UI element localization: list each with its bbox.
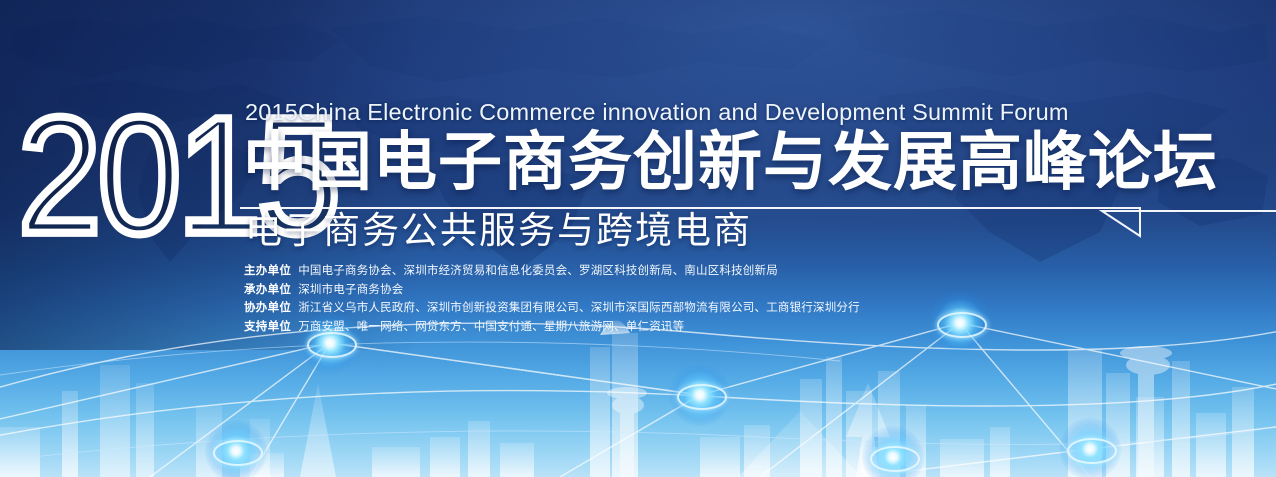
- organization-row: 承办单位 深圳市电子商务协会: [244, 281, 860, 297]
- english-subtitle: 2015China Electronic Commerce innovation…: [245, 100, 1069, 126]
- main-title: 中国电子商务创新与发展高峰论坛: [243, 130, 1218, 194]
- organization-label: 主办单位: [244, 262, 291, 278]
- organization-row: 主办单位 中国电子商务协会、深圳市经济贸易和信息化委员会、罗湖区科技创新局、南山…: [244, 262, 860, 278]
- organization-row: 协办单位 浙江省义乌市人民政府、深圳市创新投资集团有限公司、深圳市深国际西部物流…: [244, 299, 860, 315]
- organizations-list: 主办单位 中国电子商务协会、深圳市经济贸易和信息化委员会、罗湖区科技创新局、南山…: [244, 262, 860, 336]
- organization-label: 协办单位: [244, 299, 291, 315]
- organization-label: 承办单位: [244, 281, 291, 297]
- conference-banner: 2015 2015China Electronic Commerce innov…: [0, 0, 1276, 477]
- organization-row: 支持单位 万商安盟、唯一网络、网贷东方、中国支付通、星期八旅游网、单仁资讯等: [244, 318, 860, 334]
- organization-label: 支持单位: [244, 318, 291, 334]
- banner-content: 2015 2015China Electronic Commerce innov…: [0, 0, 1276, 477]
- organization-value: 深圳市电子商务协会: [298, 281, 403, 297]
- organization-value: 浙江省义乌市人民政府、深圳市创新投资集团有限公司、深圳市深国际西部物流有限公司、…: [298, 299, 860, 315]
- organization-value: 万商安盟、唯一网络、网贷东方、中国支付通、星期八旅游网、单仁资讯等: [298, 318, 684, 334]
- organization-value: 中国电子商务协会、深圳市经济贸易和信息化委员会、罗湖区科技创新局、南山区科技创新…: [298, 262, 778, 278]
- theme-subtitle: 电子商务公共服务与跨境电商: [245, 212, 752, 249]
